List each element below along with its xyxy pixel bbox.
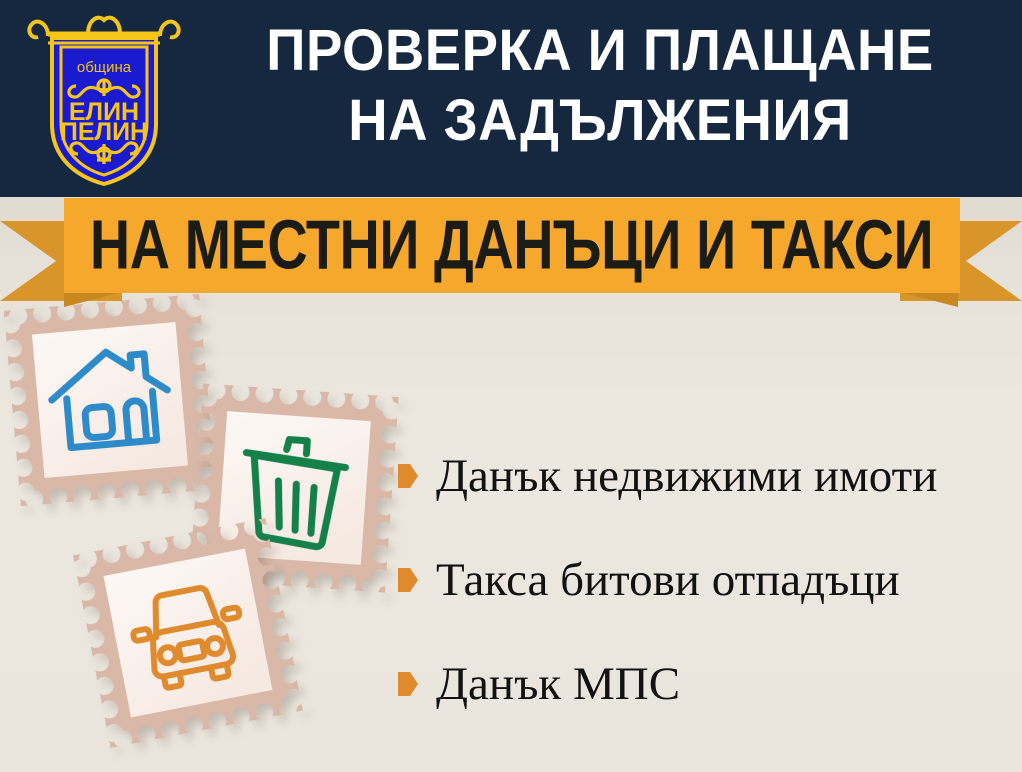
- logo-text-obshtina: община: [77, 59, 132, 76]
- stamp-vehicle-tax: [73, 518, 303, 748]
- list-item[interactable]: Данък МПС: [398, 632, 1008, 736]
- bullet-arrow-icon: [398, 672, 418, 696]
- bullet-arrow-icon: [398, 464, 418, 488]
- municipality-coat-of-arms-logo: община ЕЛИН ПЕЛИН: [18, 4, 190, 194]
- ribbon-text: НА МЕСТНИ ДАНЪЦИ И ТАКСИ: [90, 211, 933, 280]
- bullet-arrow-icon: [398, 568, 418, 592]
- list-item-label: Такса битови отпадъци: [436, 555, 900, 605]
- ribbon-banner: НА МЕСТНИ ДАНЪЦИ И ТАКСИ: [64, 198, 960, 293]
- page-title: ПРОВЕРКА И ПЛАЩАНЕ НА ЗАДЪЛЖЕНИЯ: [190, 16, 1010, 156]
- page-title-line-2: НА ЗАДЪЛЖЕНИЯ: [215, 86, 986, 156]
- stamp-real-estate: [4, 294, 216, 506]
- header-bar: община ЕЛИН ПЕЛИН ПРОВЕРКА И ПЛАЩАНЕ НА …: [0, 0, 1022, 197]
- page-title-line-1: ПРОВЕРКА И ПЛАЩАНЕ: [215, 16, 986, 86]
- list-item[interactable]: Такса битови отпадъци: [398, 528, 1008, 632]
- list-item[interactable]: Данък недвижими имоти: [398, 424, 1008, 528]
- poster-canvas: община ЕЛИН ПЕЛИН ПРОВЕРКА И ПЛАЩАНЕ НА …: [0, 0, 1022, 772]
- list-item-label: Данък МПС: [436, 659, 680, 709]
- tax-type-list: Данък недвижими имоти Такса битови отпад…: [398, 424, 1008, 736]
- stamp-illustration-group: [0, 290, 420, 770]
- subtitle-ribbon: НА МЕСТНИ ДАНЪЦИ И ТАКСИ: [0, 197, 1022, 307]
- list-item-label: Данък недвижими имоти: [436, 451, 937, 501]
- logo-text-pelin: ПЕЛИН: [60, 118, 148, 146]
